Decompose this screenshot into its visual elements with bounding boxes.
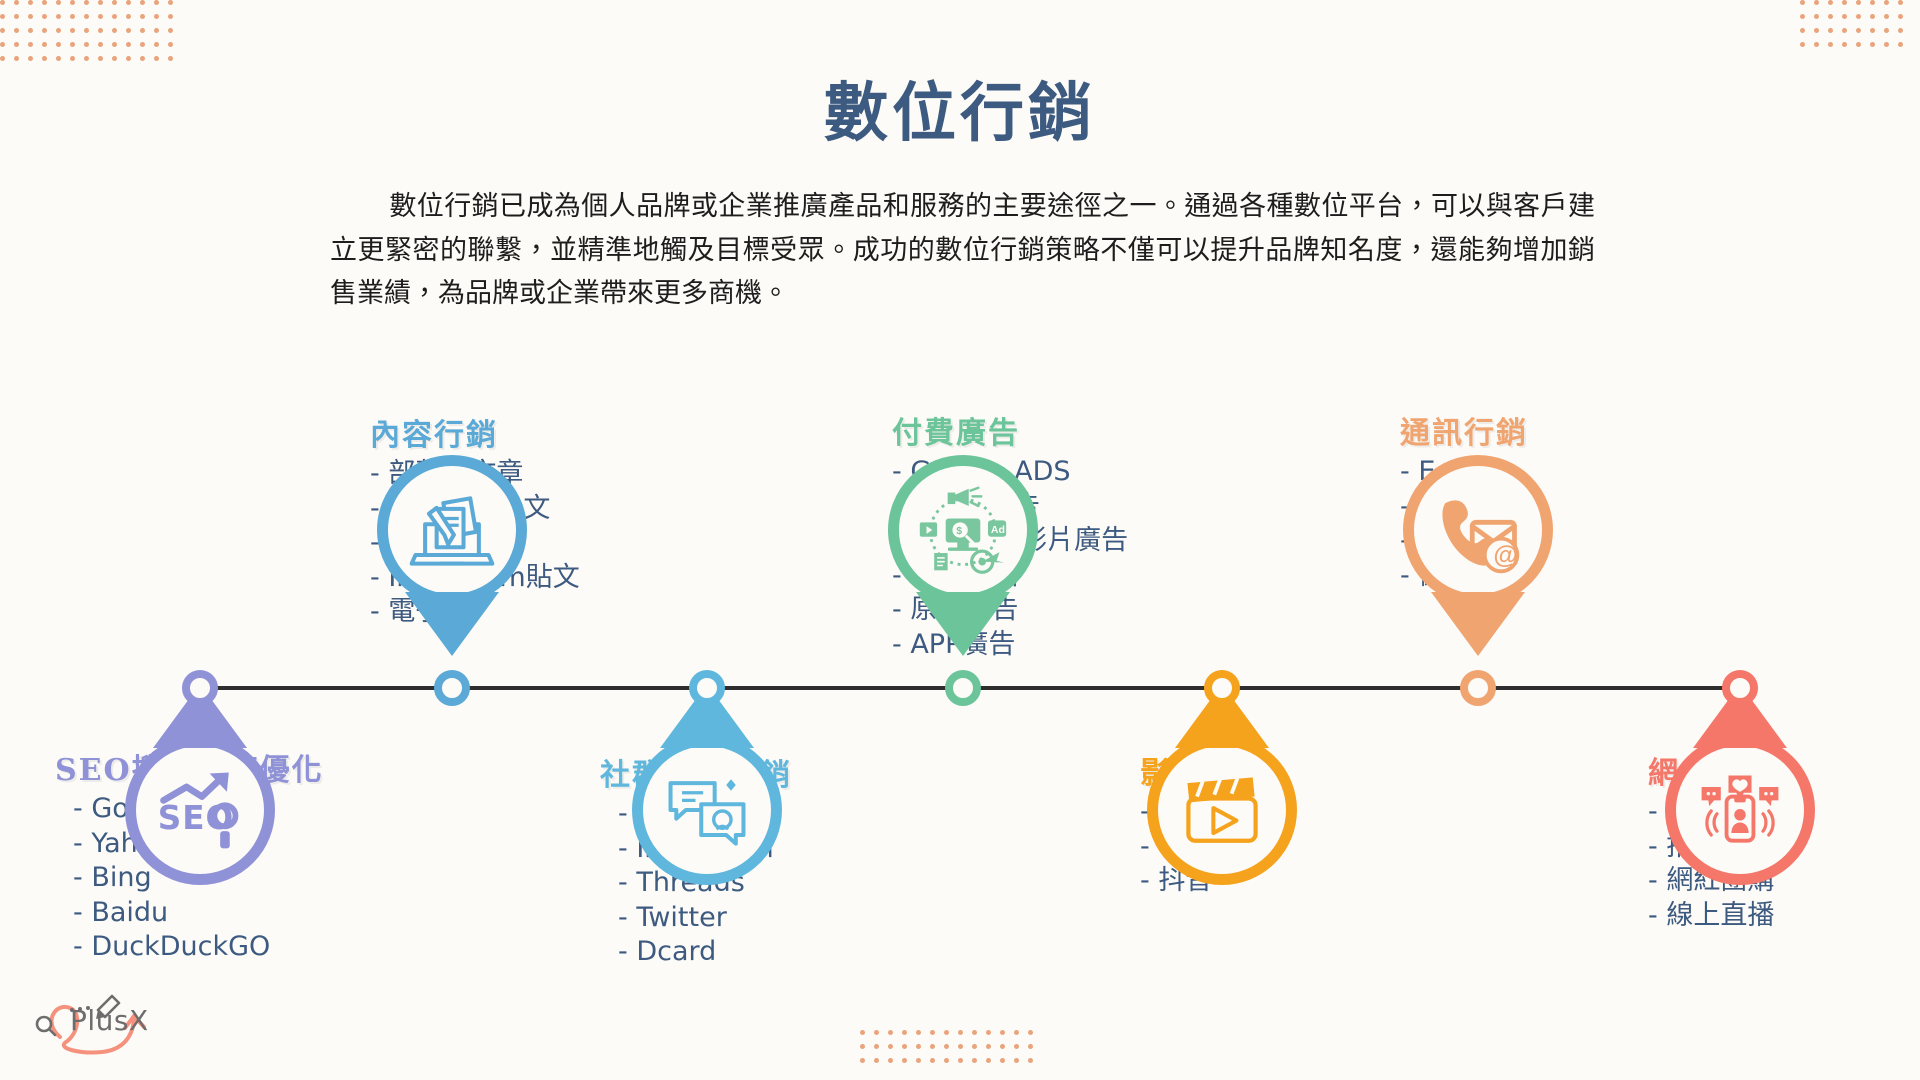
phone-person-hearts-icon	[1692, 762, 1788, 858]
brand-logo: PlusX	[22, 982, 172, 1062]
section-title-paid-ads: 付費廣告	[892, 408, 1128, 452]
marker-influencer-marketing[interactable]	[1665, 735, 1815, 885]
marker-seo[interactable]: SEO	[125, 735, 275, 885]
marker-pin-communication-marketing: @	[1403, 455, 1553, 605]
list-item: Twitter	[618, 901, 792, 936]
svg-text:$: $	[956, 525, 962, 537]
laptop-documents-pencil-icon	[404, 482, 500, 578]
marker-video-marketing[interactable]	[1147, 735, 1297, 885]
page-title: 數位行銷	[0, 62, 1920, 154]
timeline-node-influencer-marketing[interactable]	[1722, 670, 1758, 706]
decorative-dot-grid-top-left	[0, 0, 190, 70]
marker-pin-content-marketing	[377, 455, 527, 605]
timeline-node-content-marketing[interactable]	[434, 670, 470, 706]
section-title-content-marketing: 內容行銷	[370, 410, 580, 454]
decorative-dot-grid-bottom	[860, 1030, 1050, 1080]
timeline-node-video-marketing[interactable]	[1204, 670, 1240, 706]
clapperboard-play-icon	[1174, 762, 1270, 858]
svg-text:Ad: Ad	[991, 524, 1005, 536]
list-item: DuckDuckGO	[73, 930, 324, 965]
ad-campaign-cycle-icon: $ Ad	[915, 482, 1011, 578]
list-item: Dcard	[618, 935, 792, 970]
timeline-node-seo[interactable]	[182, 670, 218, 706]
brand-name: PlusX	[70, 1004, 149, 1037]
list-item: 線上直播	[1648, 899, 1776, 934]
intro-paragraph: 數位行銷已成為個人品牌或企業推廣產品和服務的主要途徑之一。通過各種數位平台，可以…	[330, 185, 1595, 316]
marker-pin-social-media-marketing	[632, 735, 782, 885]
list-item: Baidu	[73, 896, 324, 931]
chat-bubbles-icon	[659, 762, 755, 858]
marker-pin-video-marketing	[1147, 735, 1297, 885]
timeline-node-paid-ads[interactable]	[945, 670, 981, 706]
timeline-node-social-media-marketing[interactable]	[689, 670, 725, 706]
marker-pin-influencer-marketing	[1665, 735, 1815, 885]
decorative-dot-grid-top-right	[1800, 0, 1920, 60]
marker-pin-paid-ads: $ Ad	[888, 455, 1038, 605]
marker-content-marketing[interactable]	[377, 455, 527, 605]
seo-trend-magnifier-icon: SEO	[152, 762, 248, 858]
timeline-node-communication-marketing[interactable]	[1460, 670, 1496, 706]
marker-communication-marketing[interactable]: @	[1403, 455, 1553, 605]
marker-pin-seo: SEO	[125, 735, 275, 885]
marker-paid-ads[interactable]: $ Ad	[888, 455, 1038, 605]
section-title-communication-marketing: 通訊行銷	[1400, 408, 1528, 452]
marker-social-media-marketing[interactable]	[632, 735, 782, 885]
phone-envelope-at-icon: @	[1430, 482, 1526, 578]
svg-text:@: @	[1493, 542, 1517, 570]
